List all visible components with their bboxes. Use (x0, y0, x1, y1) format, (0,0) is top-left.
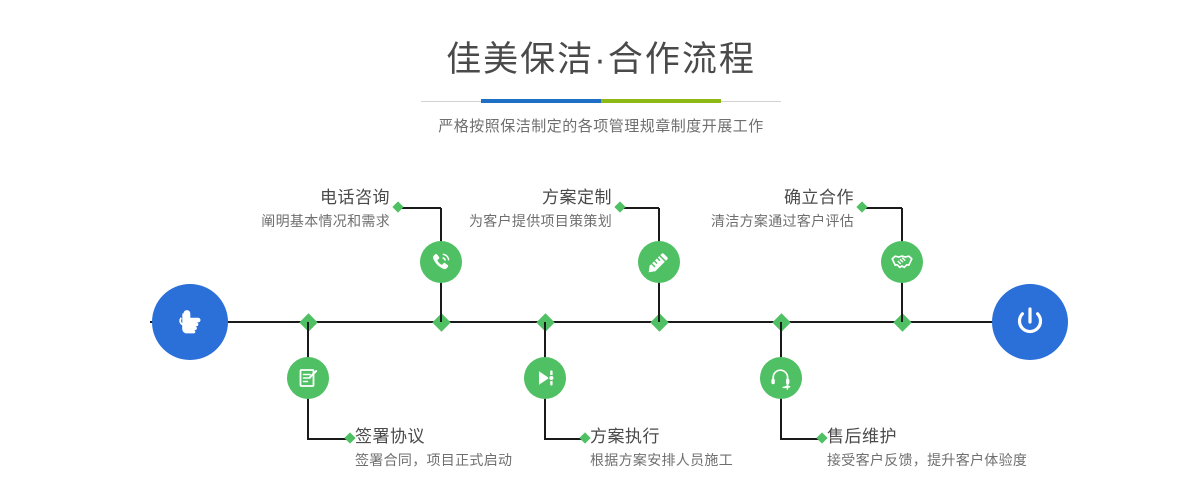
step-node-step-4 (524, 357, 566, 399)
headset-support-icon (768, 365, 794, 391)
step-title-step-5: 确立合作 (624, 188, 854, 208)
step-title-step-3: 方案定制 (382, 188, 612, 208)
timeline-end-node (992, 284, 1068, 360)
step-node-step-6 (760, 357, 802, 399)
connector-horizontal-step-4 (544, 438, 583, 440)
document-edit-icon (295, 365, 321, 391)
divider-segment-blue (481, 99, 601, 103)
step-label-step-5: 确立合作 清洁方案通过客户评估 (624, 188, 854, 231)
page-subtitle: 严格按照保洁制定的各项管理规章制度开展工作 (0, 103, 1202, 136)
handshake-icon (889, 249, 915, 275)
pointing-hand-icon (170, 302, 210, 342)
page-title: 佳美保洁·合作流程 (0, 0, 1202, 77)
step-title-step-6: 售后维护 (827, 427, 1147, 447)
step-node-step-1 (420, 241, 462, 283)
title-divider (421, 99, 781, 103)
step-desc-step-6: 接受客户反馈，提升客户体验度 (827, 450, 1147, 470)
label-bullet-step-2 (344, 432, 355, 443)
timeline-axis (150, 321, 1060, 323)
play-execute-icon (532, 365, 558, 391)
pencil-ruler-icon (646, 249, 672, 275)
header: 佳美保洁·合作流程 严格按照保洁制定的各项管理规章制度开展工作 (0, 0, 1202, 136)
step-desc-step-1: 阐明基本情况和需求 (164, 211, 390, 231)
power-icon (1009, 301, 1051, 343)
connector-horizontal-step-5 (862, 207, 902, 209)
label-bullet-step-5 (856, 201, 867, 212)
step-desc-step-5: 清洁方案通过客户评估 (624, 211, 854, 231)
step-desc-step-3: 为客户提供项目策策划 (382, 211, 612, 231)
divider-segment-green (601, 99, 721, 103)
step-node-step-3 (638, 241, 680, 283)
phone-call-icon (428, 249, 454, 275)
connector-horizontal-step-2 (307, 438, 349, 440)
step-label-step-1: 电话咨询 阐明基本情况和需求 (164, 188, 390, 231)
connector-horizontal-step-6 (780, 438, 820, 440)
step-label-step-3: 方案定制 为客户提供项目策策划 (382, 188, 612, 231)
step-node-step-5 (881, 241, 923, 283)
timeline-start-node (152, 284, 228, 360)
step-node-step-2 (287, 357, 329, 399)
process-flow-diagram: 佳美保洁·合作流程 严格按照保洁制定的各项管理规章制度开展工作 (0, 0, 1202, 502)
step-label-step-6: 售后维护 接受客户反馈，提升客户体验度 (827, 427, 1147, 470)
step-title-step-1: 电话咨询 (164, 188, 390, 208)
